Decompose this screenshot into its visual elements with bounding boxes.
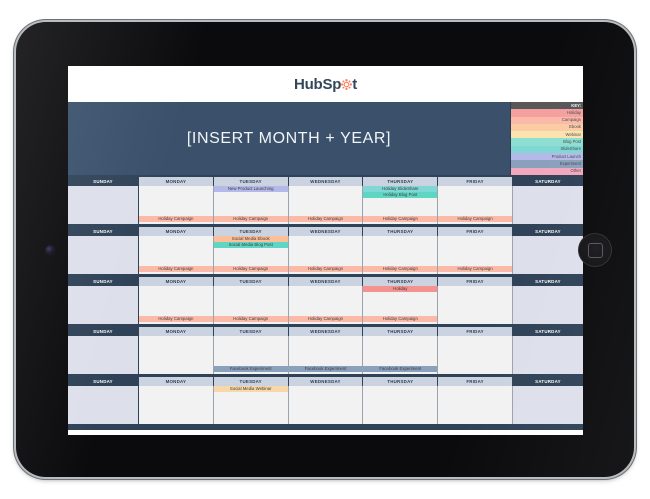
day-header-tuesday: TUESDAY [214,277,289,286]
day-header-friday: FRIDAY [438,327,513,336]
key-legend: KEY: Holiday Campaign Ebook Webinar Blog… [510,102,583,175]
day-of-week-header-row: SUNDAYMONDAYTUESDAYWEDNESDAYTHURSDAYFRID… [68,227,583,236]
calendar-cell[interactable] [513,236,583,274]
day-of-week-header-row: SUNDAYMONDAYTUESDAYWEDNESDAYTHURSDAYFRID… [68,327,583,336]
calendar-cell[interactable] [68,236,139,274]
calendar-cell[interactable]: Social Media Webinar [214,386,289,424]
calendar-week-row: SUNDAYMONDAYTUESDAYWEDNESDAYTHURSDAYFRID… [68,277,583,324]
day-header-friday: FRIDAY [438,377,513,386]
tablet-screen: HubSp t [68,66,583,435]
key-item-slideshare: SlideShare [511,146,583,153]
calendar-event[interactable]: Holiday Blog Post [363,192,437,198]
calendar-event-campaign-bar[interactable]: Holiday Campaign [438,216,512,222]
home-button[interactable] [578,233,612,267]
day-header-wednesday: WEDNESDAY [289,227,364,236]
calendar-event-campaign-bar[interactable]: Holiday Campaign [438,266,512,272]
calendar-cell-row: Holiday CampaignNew Product LaunchingHol… [68,186,583,224]
calendar-cell-row: Social Media Webinar [68,386,583,424]
day-header-thursday: THURSDAY [363,177,438,186]
calendar-cell[interactable]: Holiday Campaign [139,186,214,224]
day-of-week-header-row: SUNDAYMONDAYTUESDAYWEDNESDAYTHURSDAYFRID… [68,177,583,186]
day-header-tuesday: TUESDAY [214,227,289,236]
calendar-week-row: SUNDAYMONDAYTUESDAYWEDNESDAYTHURSDAYFRID… [68,327,583,374]
key-heading: KEY: [511,102,583,109]
front-camera-icon [46,246,54,254]
calendar-cell[interactable] [513,386,583,424]
calendar-cell[interactable] [513,286,583,324]
day-header-friday: FRIDAY [438,227,513,236]
key-item-webinar: Webinar [511,131,583,138]
calendar-cell[interactable]: HolidayHoliday Campaign [363,286,438,324]
logo-bar: HubSp t [68,66,583,102]
calendar-event-campaign-bar[interactable]: Holiday Campaign [214,266,288,272]
day-header-saturday: SATURDAY [513,327,583,336]
hubspot-logo-text-left: HubSp [294,76,341,93]
day-of-week-header-row: SUNDAYMONDAYTUESDAYWEDNESDAYTHURSDAYFRID… [68,377,583,386]
calendar-cell[interactable]: Social Media EbookSocial Media Blog Post… [214,236,289,274]
day-header-sunday: SUNDAY [68,377,139,386]
day-header-monday: MONDAY [139,327,214,336]
day-header-friday: FRIDAY [438,277,513,286]
calendar-cell[interactable]: Holiday Campaign [438,186,513,224]
calendar-cell[interactable]: Holiday Campaign [289,236,364,274]
calendar-cell[interactable] [438,386,513,424]
editorial-calendar: SUNDAYMONDAYTUESDAYWEDNESDAYTHURSDAYFRID… [68,175,583,430]
day-of-week-header-row: SUNDAYMONDAYTUESDAYWEDNESDAYTHURSDAYFRID… [68,277,583,286]
calendar-event-campaign-bar[interactable]: Holiday Campaign [139,216,213,222]
calendar-event-campaign-bar[interactable]: Holiday Campaign [214,216,288,222]
day-header-wednesday: WEDNESDAY [289,277,364,286]
calendar-event[interactable]: Holiday [363,286,437,292]
day-header-monday: MONDAY [139,227,214,236]
calendar-week-row: SUNDAYMONDAYTUESDAYWEDNESDAYTHURSDAYFRID… [68,377,583,424]
calendar-cell[interactable]: New Product LaunchingHoliday Campaign [214,186,289,224]
calendar-cell[interactable] [513,186,583,224]
day-header-tuesday: TUESDAY [214,177,289,186]
calendar-cell[interactable]: Facebook Experiment [214,336,289,374]
tablet-device: HubSp t [16,22,634,477]
calendar-cell[interactable]: Holiday Campaign [363,236,438,274]
calendar-cell[interactable]: Holiday Campaign [139,286,214,324]
calendar-cell-row: Holiday CampaignSocial Media EbookSocial… [68,236,583,274]
day-header-saturday: SATURDAY [513,377,583,386]
calendar-cell[interactable]: Holiday Campaign [214,286,289,324]
day-header-saturday: SATURDAY [513,177,583,186]
day-header-thursday: THURSDAY [363,227,438,236]
hubspot-sprocket-icon [341,79,352,90]
calendar-cell[interactable] [68,186,139,224]
key-item-blog-post: Blog Post [511,138,583,145]
calendar-cell[interactable] [68,286,139,324]
calendar-event[interactable]: Social Media Webinar [214,386,288,392]
day-header-monday: MONDAY [139,377,214,386]
calendar-event-campaign-bar[interactable]: Holiday Campaign [363,266,437,272]
calendar-cell[interactable]: Holiday Campaign [289,186,364,224]
calendar-cell[interactable] [68,336,139,374]
calendar-cell[interactable] [68,386,139,424]
calendar-cell[interactable] [438,336,513,374]
calendar-week-row: SUNDAYMONDAYTUESDAYWEDNESDAYTHURSDAYFRID… [68,177,583,224]
calendar-cell[interactable] [363,386,438,424]
calendar-cell[interactable]: Holiday Campaign [438,236,513,274]
calendar-event-campaign-bar[interactable]: Holiday Campaign [289,266,363,272]
day-header-sunday: SUNDAY [68,177,139,186]
calendar-cell-row: Facebook ExperimentFacebook ExperimentFa… [68,336,583,374]
key-item-other: Other [511,168,583,175]
calendar-event-campaign-bar[interactable]: Facebook Experiment [289,366,363,372]
hubspot-logo-text-right: t [352,76,357,93]
key-item-ebook: Ebook [511,124,583,131]
calendar-week-row: SUNDAYMONDAYTUESDAYWEDNESDAYTHURSDAYFRID… [68,227,583,274]
calendar-event-campaign-bar[interactable]: Holiday Campaign [139,266,213,272]
day-header-sunday: SUNDAY [68,327,139,336]
calendar-event[interactable]: Social Media Blog Post [214,242,288,248]
calendar-cell-row: Holiday CampaignHoliday CampaignHoliday … [68,286,583,324]
calendar-event-campaign-bar[interactable]: Holiday Campaign [139,316,213,322]
day-header-sunday: SUNDAY [68,277,139,286]
calendar-cell[interactable] [139,386,214,424]
calendar-event-campaign-bar[interactable]: Holiday Campaign [363,216,437,222]
home-square-icon [588,243,603,258]
hubspot-logo: HubSp t [294,76,357,93]
calendar-event-campaign-bar[interactable]: Holiday Campaign [289,316,363,322]
calendar-cell[interactable]: Facebook Experiment [289,336,364,374]
calendar-event-campaign-bar[interactable]: Holiday Campaign [363,316,437,322]
day-header-thursday: THURSDAY [363,377,438,386]
calendar-cell[interactable]: Facebook Experiment [363,336,438,374]
day-header-thursday: THURSDAY [363,277,438,286]
day-header-saturday: SATURDAY [513,227,583,236]
day-header-saturday: SATURDAY [513,277,583,286]
calendar-event-campaign-bar[interactable]: Facebook Experiment [214,366,288,372]
key-item-holiday: Holiday [511,109,583,116]
calendar-event-campaign-bar[interactable]: Holiday Campaign [289,216,363,222]
calendar-cell[interactable]: Holiday Campaign [139,236,214,274]
month-banner-row: [INSERT MONTH + YEAR] KEY: Holiday Campa… [68,102,583,175]
day-header-thursday: THURSDAY [363,327,438,336]
day-header-friday: FRIDAY [438,177,513,186]
calendar-event[interactable]: New Product Launching [214,186,288,192]
key-item-experiment: Experiment [511,160,583,167]
calendar-cell[interactable] [513,336,583,374]
day-header-wednesday: WEDNESDAY [289,177,364,186]
day-header-tuesday: TUESDAY [214,327,289,336]
calendar-cell[interactable]: Holiday Campaign [289,286,364,324]
day-header-monday: MONDAY [139,277,214,286]
key-item-product-launch: Product Launch [511,153,583,160]
day-header-monday: MONDAY [139,177,214,186]
day-header-wednesday: WEDNESDAY [289,377,364,386]
month-title[interactable]: [INSERT MONTH + YEAR] [68,102,510,175]
day-header-wednesday: WEDNESDAY [289,327,364,336]
calendar-cell[interactable] [438,286,513,324]
day-header-tuesday: TUESDAY [214,377,289,386]
calendar-cell[interactable] [289,386,364,424]
calendar-event-campaign-bar[interactable]: Holiday Campaign [214,316,288,322]
key-item-campaign: Campaign [511,117,583,124]
calendar-cell[interactable] [139,336,214,374]
calendar-event-campaign-bar[interactable]: Facebook Experiment [363,366,437,372]
day-header-sunday: SUNDAY [68,227,139,236]
calendar-cell[interactable]: Holiday SlideShareHoliday Blog PostHolid… [363,186,438,224]
